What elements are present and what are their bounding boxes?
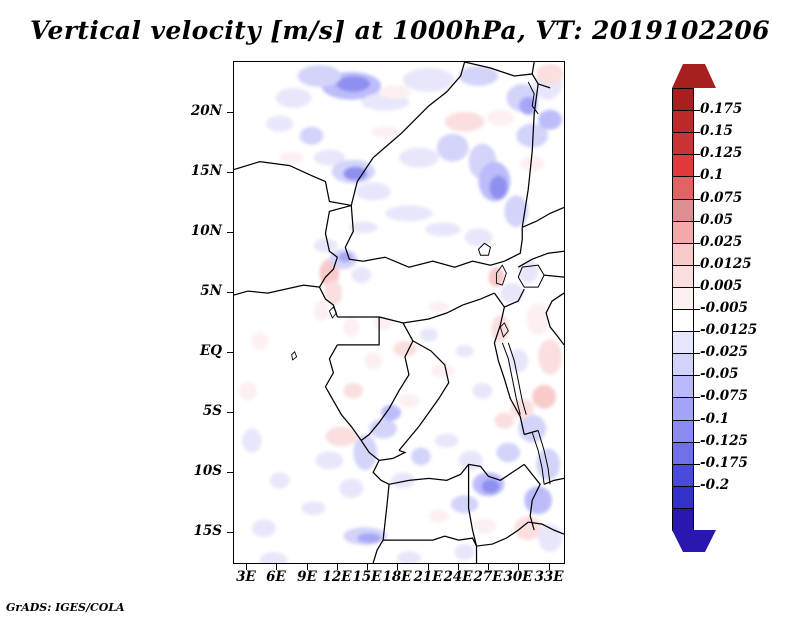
colorbar-tick-label: 0.075: [700, 190, 742, 206]
colorbar-tick-label: 0.0125: [700, 256, 752, 272]
colorbar-band: [672, 420, 694, 444]
colorbar-arrow-top: [672, 64, 716, 88]
colorbar-tick-label: -0.1: [700, 411, 729, 427]
colorbar-tick-label: 0.15: [700, 123, 733, 139]
y-tick-label: 15S: [162, 523, 222, 539]
map-plot-area: [233, 61, 565, 564]
colorbar-band: [672, 442, 694, 466]
colorbar-tick-label: -0.005: [700, 300, 748, 316]
colorbar-band: [672, 88, 694, 112]
colorbar-band: [672, 309, 694, 333]
colorbar-band: [672, 132, 694, 156]
footer-credit: GrADS: IGES/COLA: [6, 601, 125, 614]
x-tick-label: 33E: [529, 569, 569, 585]
colorbar-band: [672, 331, 694, 355]
colorbar-tick-label: -0.075: [700, 388, 748, 404]
colorbar: [672, 88, 694, 530]
colorbar-tick-label: -0.0125: [700, 322, 757, 338]
colorbar-tick-label: -0.125: [700, 433, 748, 449]
colorbar-tick-label: -0.2: [700, 477, 729, 493]
colorbar-tick-label: -0.025: [700, 344, 748, 360]
colorbar-band: [672, 110, 694, 134]
colorbar-band: [672, 353, 694, 377]
colorbar-band: [672, 397, 694, 421]
y-tick-label: 10N: [162, 223, 222, 239]
y-tick: [227, 172, 233, 173]
y-tick-label: 15N: [162, 163, 222, 179]
y-tick: [227, 292, 233, 293]
colorbar-tick-label: 0.175: [700, 101, 742, 117]
colorbar-tick-label: 0.1: [700, 167, 724, 183]
y-tick-label: 5S: [162, 403, 222, 419]
colorbar-band: [672, 243, 694, 267]
colorbar-arrow-bottom: [672, 530, 716, 552]
colorbar-tick-label: -0.05: [700, 366, 738, 382]
y-tick: [227, 232, 233, 233]
y-tick-label: 20N: [162, 103, 222, 119]
y-tick: [227, 352, 233, 353]
colorbar-tick-label: 0.025: [700, 234, 742, 250]
y-tick: [227, 472, 233, 473]
page-title: Vertical velocity [m/s] at 1000hPa, VT: …: [0, 16, 800, 45]
colorbar-band: [672, 375, 694, 399]
colorbar-band: [672, 154, 694, 178]
colorbar-tick-label: 0.005: [700, 278, 742, 294]
colorbar-band: [672, 176, 694, 200]
y-tick-label: 10S: [162, 463, 222, 479]
colorbar-band: [672, 221, 694, 245]
colorbar-band: [672, 464, 694, 488]
y-tick-label: 5N: [162, 283, 222, 299]
colorbar-tick-label: -0.175: [700, 455, 748, 471]
y-tick: [227, 532, 233, 533]
colorbar-band: [672, 265, 694, 289]
y-tick: [227, 412, 233, 413]
colorbar-tick-label: 0.05: [700, 212, 733, 228]
colorbar-band: [672, 508, 694, 532]
coastline-and-borders: [234, 62, 564, 563]
colorbar-band: [672, 199, 694, 223]
colorbar-tick-label: 0.125: [700, 145, 742, 161]
colorbar-band: [672, 287, 694, 311]
y-tick-label: EQ: [162, 343, 222, 359]
y-tick: [227, 112, 233, 113]
colorbar-band: [672, 486, 694, 510]
